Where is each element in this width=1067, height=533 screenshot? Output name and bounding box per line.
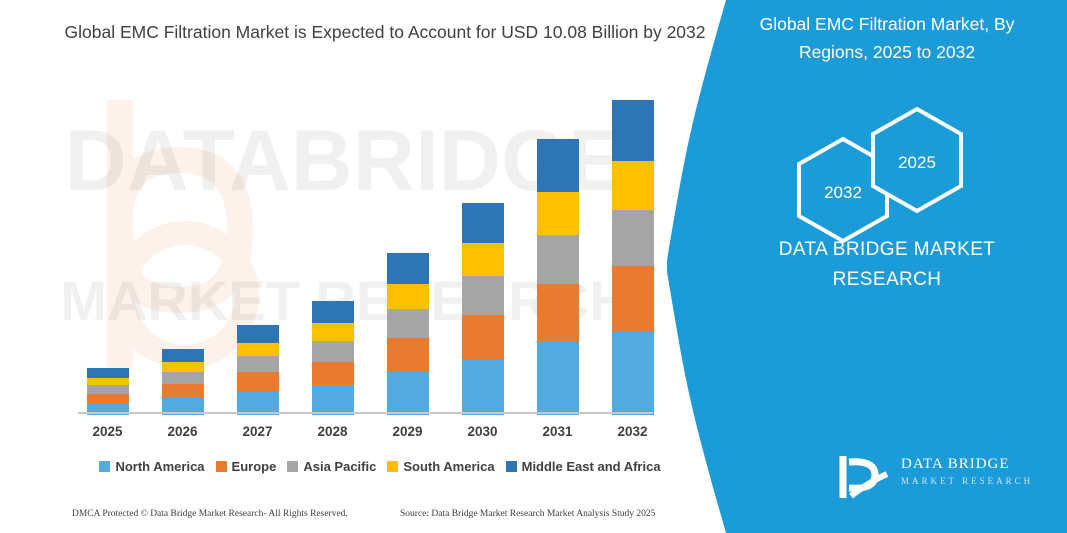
bar-segment-middle-east-and-africa <box>237 325 279 342</box>
bar-2025 <box>87 368 129 415</box>
logo-text-sub: MARKET RESEARCH <box>901 476 1033 486</box>
legend-item-north-america[interactable]: North America <box>99 459 204 474</box>
bar-segment-north-america <box>612 332 654 415</box>
bar-segment-middle-east-and-africa <box>87 368 129 378</box>
bar-segment-asia-pacific <box>312 341 354 361</box>
bar-segment-middle-east-and-africa <box>387 253 429 284</box>
brand-name: DATA BRIDGE MARKET RESEARCH <box>727 235 1047 295</box>
bar-segment-europe <box>162 384 204 398</box>
bar-segment-south-america <box>462 243 504 276</box>
bar-segment-europe <box>387 338 429 372</box>
legend-item-middle-east-and-africa[interactable]: Middle East and Africa <box>506 459 661 474</box>
bar-segment-asia-pacific <box>612 210 654 265</box>
legend-swatch-icon <box>287 461 298 472</box>
bar-segment-middle-east-and-africa <box>537 139 579 192</box>
legend-swatch-icon <box>387 461 398 472</box>
x-tick-2030: 2030 <box>448 424 518 439</box>
hexagon-2025-label: 2025 <box>869 153 965 173</box>
x-tick-2031: 2031 <box>523 424 593 439</box>
x-axis-line <box>78 412 653 414</box>
bar-segment-asia-pacific <box>162 372 204 384</box>
legend-label: North America <box>115 459 204 474</box>
bar-2032 <box>612 100 654 415</box>
company-logo: DATA BRIDGE MARKET RESEARCH <box>837 452 1047 504</box>
bar-segment-south-america <box>312 323 354 341</box>
chart-legend: North AmericaEuropeAsia PacificSouth Ame… <box>70 455 690 477</box>
bar-segment-south-america <box>387 284 429 310</box>
bar-2030 <box>462 203 504 415</box>
legend-label: Asia Pacific <box>303 459 376 474</box>
hexagon-2025: 2025 <box>869 105 965 220</box>
legend-item-asia-pacific[interactable]: Asia Pacific <box>287 459 376 474</box>
x-tick-2027: 2027 <box>223 424 293 439</box>
footer-copyright: DMCA Protected © Data Bridge Market Rese… <box>72 509 348 519</box>
legend-label: Middle East and Africa <box>522 459 661 474</box>
legend-swatch-icon <box>99 461 110 472</box>
bar-segment-asia-pacific <box>462 276 504 314</box>
bar-2026 <box>162 349 204 415</box>
bar-segment-south-america <box>162 362 204 373</box>
bar-2031 <box>537 139 579 415</box>
x-tick-2028: 2028 <box>298 424 368 439</box>
x-tick-2026: 2026 <box>148 424 218 439</box>
x-tick-2025: 2025 <box>73 424 143 439</box>
legend-swatch-icon <box>216 461 227 472</box>
legend-label: South America <box>403 459 494 474</box>
bar-segment-europe <box>87 394 129 404</box>
right-panel-title: Global EMC Filtration Market, By Regions… <box>727 10 1047 66</box>
bar-segment-south-america <box>87 378 129 385</box>
x-axis-tick-labels: 20252026202720282029203020312032 <box>70 420 670 446</box>
bar-segment-middle-east-and-africa <box>612 100 654 161</box>
bar-segment-europe <box>537 284 579 343</box>
bar-2029 <box>387 253 429 415</box>
bar-segment-asia-pacific <box>387 309 429 338</box>
bar-segment-middle-east-and-africa <box>462 203 504 244</box>
footer-source: Source: Data Bridge Market Research Mark… <box>400 509 655 519</box>
bar-segment-europe <box>462 315 504 360</box>
bar-segment-south-america <box>612 161 654 210</box>
bar-2027 <box>237 325 279 415</box>
right-info-panel: Global EMC Filtration Market, By Regions… <box>667 0 1067 533</box>
page-title: Global EMC Filtration Market is Expected… <box>60 18 710 47</box>
bar-segment-europe <box>237 372 279 391</box>
bar-segment-south-america <box>237 343 279 357</box>
bar-segment-europe <box>312 362 354 385</box>
bar-segment-asia-pacific <box>237 356 279 372</box>
bar-segment-middle-east-and-africa <box>312 301 354 323</box>
bar-segment-north-america <box>462 360 504 415</box>
bar-segment-north-america <box>312 385 354 415</box>
legend-item-south-america[interactable]: South America <box>387 459 494 474</box>
x-tick-2029: 2029 <box>373 424 443 439</box>
x-tick-2032: 2032 <box>598 424 668 439</box>
bar-segment-north-america <box>537 342 579 415</box>
bridge-logo-icon <box>837 452 895 502</box>
bar-segment-north-america <box>387 372 429 415</box>
logo-text-main: DATA BRIDGE <box>901 456 1010 473</box>
legend-label: Europe <box>232 459 277 474</box>
legend-swatch-icon <box>506 461 517 472</box>
brand-line-1: DATA BRIDGE MARKET <box>727 235 1047 265</box>
bar-2028 <box>312 301 354 415</box>
legend-item-europe[interactable]: Europe <box>216 459 277 474</box>
footer: DMCA Protected © Data Bridge Market Rese… <box>0 505 700 529</box>
bar-segment-europe <box>612 266 654 332</box>
bar-segment-south-america <box>537 192 579 235</box>
brand-line-2: RESEARCH <box>727 265 1047 295</box>
bar-segment-middle-east-and-africa <box>162 349 204 362</box>
bar-segment-asia-pacific <box>537 235 579 284</box>
bar-segment-asia-pacific <box>87 385 129 394</box>
bar-chart-plot-area <box>70 95 670 415</box>
